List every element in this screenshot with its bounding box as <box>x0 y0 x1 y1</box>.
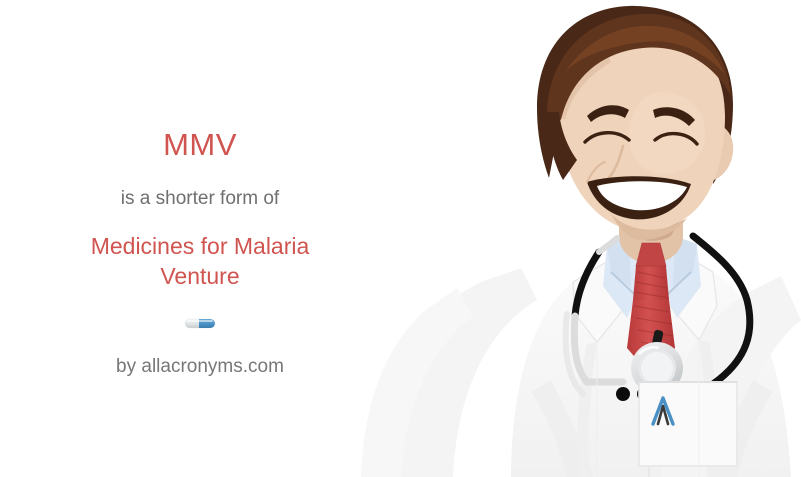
acronym-definition-card: MMV is a shorter form of Medicines for M… <box>0 0 801 477</box>
coat-pocket <box>639 382 737 466</box>
text-column: MMV is a shorter form of Medicines for M… <box>0 0 400 477</box>
stethoscope-earpiece-left <box>616 387 630 401</box>
full-form-text: Medicines for Malaria Venture <box>50 232 350 291</box>
pill-capsule-icon <box>185 319 215 328</box>
byline-text: by allacronyms.com <box>116 356 284 378</box>
divider <box>185 317 215 331</box>
smiling-doctor-illustration <box>361 0 801 477</box>
head <box>537 6 733 240</box>
acronym-title: MMV <box>163 128 237 162</box>
connector-text: is a shorter form of <box>121 188 279 210</box>
doctor-svg <box>361 0 801 477</box>
